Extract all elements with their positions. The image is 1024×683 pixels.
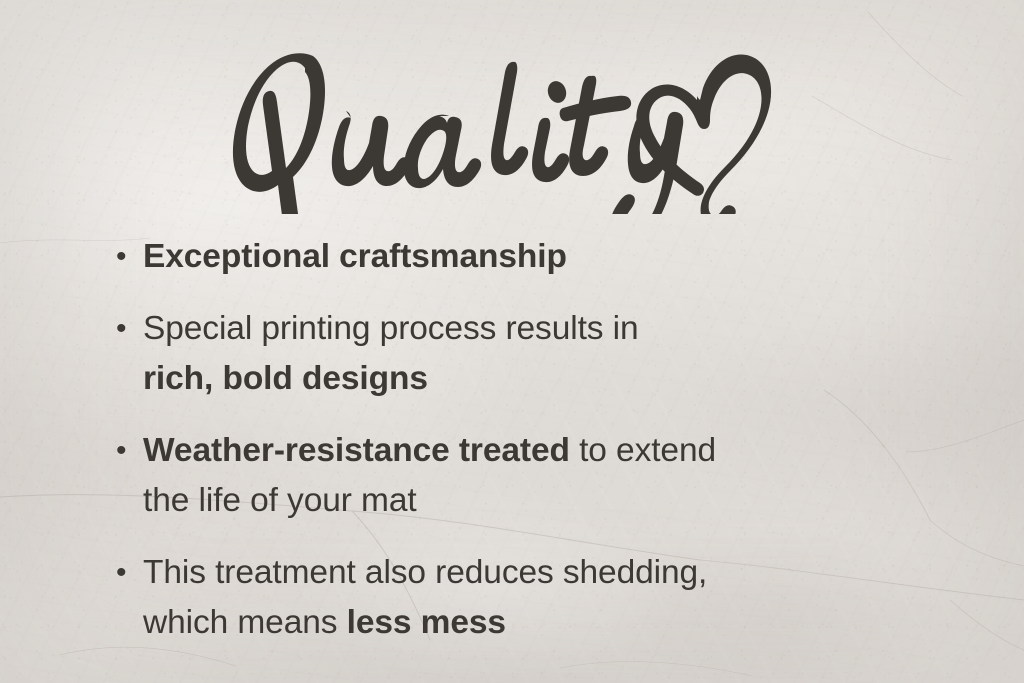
list-item: • Special printing process results in ri… xyxy=(113,304,903,404)
bullet-marker-icon: • xyxy=(113,304,143,354)
bullet-line: which means xyxy=(143,604,347,641)
list-item: • This treatment also reduces shedding, … xyxy=(113,548,903,648)
bullet-line-emphasis: Weather-resistance treated xyxy=(143,432,570,469)
bullet-line: This treatment also reduces shedding, xyxy=(143,554,707,591)
bullet-marker-icon: • xyxy=(113,232,143,282)
bullet-line: Exceptional craftsmanship xyxy=(143,238,567,275)
bullet-craftsmanship-text: Exceptional craftsmanship xyxy=(143,232,903,282)
bullet-line: Special printing process results in xyxy=(143,310,639,347)
bullet-line-emphasis: rich, bold designs xyxy=(143,360,428,397)
feature-bullet-list: • Exceptional craftsmanship • Special pr… xyxy=(113,232,903,648)
poster-title-block: Quality xyxy=(0,34,1024,214)
bullet-printing-process-text: Special printing process results in rich… xyxy=(143,304,903,404)
bullet-less-shedding-text: This treatment also reduces shedding, wh… xyxy=(143,548,903,648)
quality-feature-poster: Quality xyxy=(0,0,1024,683)
bullet-line: to extend xyxy=(570,432,716,469)
bullet-marker-icon: • xyxy=(113,548,143,598)
bullet-line-emphasis: less mess xyxy=(347,604,506,641)
list-item: • Weather-resistance treated to extend t… xyxy=(113,426,903,526)
bullet-weather-resistance-text: Weather-resistance treated to extend the… xyxy=(143,426,903,526)
bullet-line: the life of your mat xyxy=(143,482,417,519)
bullet-marker-icon: • xyxy=(113,426,143,476)
poster-title-artwork: Quality xyxy=(0,34,1024,214)
list-item: • Exceptional craftsmanship xyxy=(113,232,903,282)
